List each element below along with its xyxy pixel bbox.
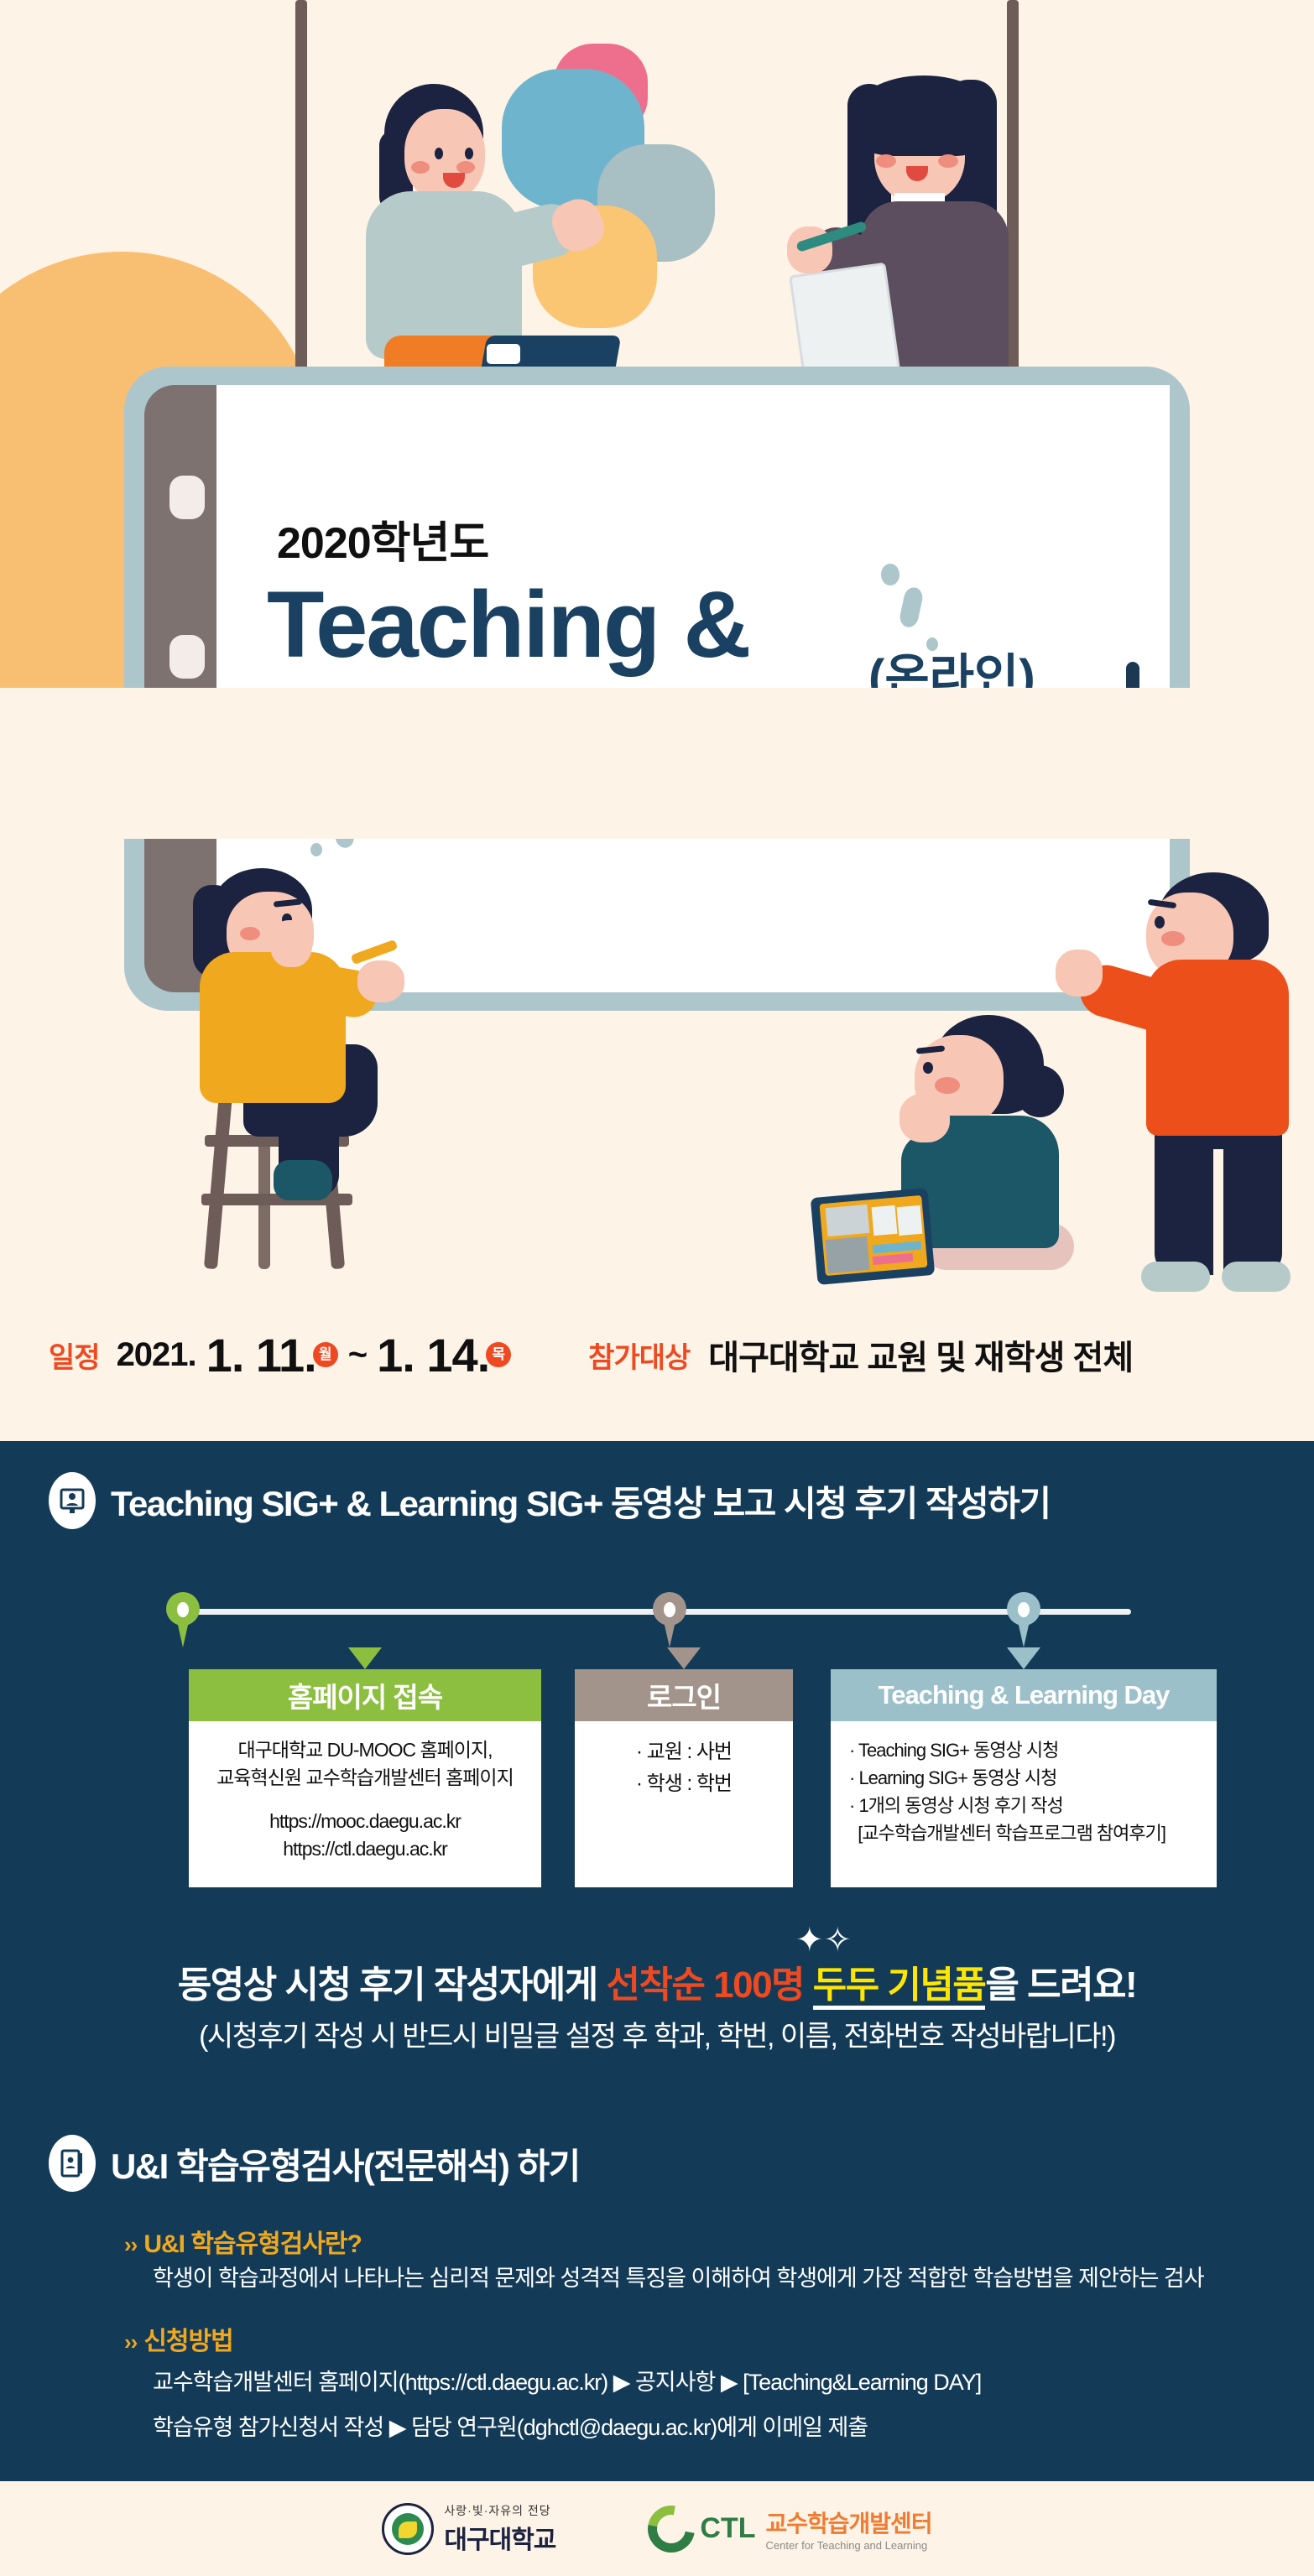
university-logo: 사랑·빛·자유의 전당 대구대학교: [382, 2502, 555, 2556]
gift-prefix: 동영상 시청 후기 작성자에게: [178, 1965, 607, 2006]
hero-section: 2020학년도 Teaching & (온라인) Learning Day: [0, 0, 1314, 1447]
timeline-pin-1: [166, 1592, 200, 1647]
gift-note: (시청후기 작성 시 반드시 비밀글 설정 후 학과, 학번, 이름, 전화번호…: [0, 2013, 1314, 2054]
chevron-right-icon-1: ››: [124, 2232, 137, 2257]
schedule-end-weekday-badge: 목: [486, 1342, 511, 1367]
info-bar: 일정 2021. 1. 11. 월 ~ 1. 14. 목 참가대상 대구대학교 …: [0, 1317, 1314, 1392]
step-card-2-body: · 교원 : 사번 · 학생 : 학번: [575, 1721, 793, 1816]
step-card-2: 로그인 · 교원 : 사번 · 학생 : 학번: [575, 1669, 793, 1887]
step-card-3-line-1: · Teaching SIG+ 동영상 시청: [849, 1736, 1205, 1764]
ui-item-1-body-line-1: 학생이 학습과정에서 나타나는 심리적 문제와 성격적 특징을 이해하여 학생에…: [153, 2260, 1204, 2292]
step-card-2-arrow: [667, 1647, 701, 1669]
schedule-label: 일정: [49, 1335, 100, 1376]
step-card-3-line-4: [교수학습개발센터 학습프로그램 참여후기]: [849, 1819, 1205, 1847]
schedule-range-separator: ~: [348, 1336, 367, 1374]
section-1-header: Teaching SIG+ & Learning SIG+ 동영상 보고 시청 …: [49, 1472, 1051, 1529]
gift-suffix: 을 드려요!: [985, 1965, 1136, 2006]
ctl-logo: CTL 교수학습개발센터 Center for Teaching and Lea…: [648, 2506, 931, 2553]
schedule-year: 2021.: [117, 1336, 196, 1374]
step-card-2-line-2: · 학생 : 학번: [587, 1768, 781, 1800]
ctl-logo-text: 교수학습개발센터 Center for Teaching and Learnin…: [766, 2506, 932, 2552]
audience-value: 대구대학교 교원 및 재학생 전체: [708, 1330, 1133, 1379]
audience-label: 참가대상: [588, 1335, 690, 1376]
ui-item-2-body-line-2: 학습유형 참가신청서 작성 ▶ 담당 연구원(dghctl@daegu.ac.k…: [153, 2409, 868, 2442]
poster-title-line1: Teaching &: [267, 570, 749, 679]
poster-root: 2020학년도 Teaching & (온라인) Learning Day: [0, 0, 1314, 2576]
decor-sparkle-3: [926, 637, 938, 651]
presentation-icon: [49, 1472, 96, 1529]
step-card-1-arrow: [348, 1647, 382, 1669]
ctl-abbr: CTL: [700, 2512, 755, 2545]
document-card-icon: [49, 2135, 96, 2192]
step-card-3-line-2: · Learning SIG+ 동영상 시청: [849, 1764, 1205, 1792]
ui-item-2-body-line-1: 교수학습개발센터 홈페이지(https://ctl.daegu.ac.kr) ▶…: [153, 2364, 981, 2396]
daegu-university-seal-icon: [382, 2503, 434, 2555]
gift-highlight-count: 선착순 100명: [606, 1965, 804, 2006]
schedule-start-date: 1. 11.: [206, 1328, 316, 1382]
illustration-person-standing: [1099, 872, 1314, 1292]
ctl-english-name: Center for Teaching and Learning: [766, 2539, 932, 2552]
university-name: 대구대학교: [444, 2519, 555, 2556]
ctl-ring-icon: [639, 2496, 704, 2562]
step-card-3-header: Teaching & Learning Day: [831, 1669, 1217, 1721]
step-card-1-link-1[interactable]: https://mooc.daegu.ac.kr: [201, 1808, 529, 1835]
step-card-1-header: 홈페이지 접속: [189, 1669, 541, 1721]
step-card-3-line-3: · 1개의 동영상 시청 후기 작성: [849, 1792, 1205, 1819]
section-2-title: U&I 학습유형검사(전문해석) 하기: [111, 2138, 580, 2189]
university-tagline: 사랑·빛·자유의 전당: [444, 2502, 555, 2519]
timeline-pin-3: [1007, 1592, 1040, 1647]
tablet-dot-2: [169, 635, 205, 679]
gift-announcement: 동영상 시청 후기 작성자에게 선착순 100명 두두 기념품을 드려요!: [0, 1954, 1314, 2008]
step-card-3-arrow: [1007, 1647, 1040, 1669]
schedule-start-weekday-badge: 월: [313, 1342, 338, 1367]
step-card-2-header: 로그인: [575, 1669, 793, 1721]
step-card-3: Teaching & Learning Day · Teaching SIG+ …: [831, 1669, 1217, 1887]
ctl-name: 교수학습개발센터: [766, 2506, 932, 2539]
step-card-1-link-2[interactable]: https://ctl.daegu.ac.kr: [201, 1835, 529, 1863]
university-logo-text: 사랑·빛·자유의 전당 대구대학교: [444, 2502, 555, 2556]
poster-year: 2020학년도: [277, 507, 488, 570]
decor-sparkle-1: [881, 564, 899, 585]
hero-lower-mask: [0, 688, 1314, 839]
section-2-header: U&I 학습유형검사(전문해석) 하기: [49, 2135, 580, 2192]
chevron-right-icon-2: ››: [124, 2329, 137, 2355]
section-1-title: Teaching SIG+ & Learning SIG+ 동영상 보고 시청 …: [111, 1475, 1051, 1527]
step-card-3-body: · Teaching SIG+ 동영상 시청 · Learning SIG+ 동…: [831, 1721, 1217, 1862]
decor-sparkle-5: [310, 843, 322, 856]
step-card-1-line-1: 대구대학교 DU-MOOC 홈페이지,: [201, 1736, 529, 1764]
schedule-end-date: 1. 14.: [377, 1328, 489, 1382]
tablet-dot-1: [169, 476, 205, 519]
ui-item-2-label: 신청방법: [143, 2328, 232, 2355]
gift-highlight-item: 두두 기념품: [813, 1965, 986, 2010]
ui-item-2-label-row: ››신청방법: [124, 2320, 233, 2357]
footer: 사랑·빛·자유의 전당 대구대학교 CTL 교수학습개발센터 Center fo…: [0, 2481, 1314, 2576]
ui-item-1-label-row: ››U&I 학습유형검사란?: [124, 2223, 362, 2260]
step-card-1-body: 대구대학교 DU-MOOC 홈페이지, 교육혁신원 교수학습개발센터 홈페이지 …: [189, 1721, 541, 1878]
hanger-rope-left: [295, 0, 307, 394]
step-card-1: 홈페이지 접속 대구대학교 DU-MOOC 홈페이지, 교육혁신원 교수학습개발…: [189, 1669, 541, 1887]
ui-item-1-label: U&I 학습유형검사란?: [143, 2230, 362, 2258]
timeline-pin-2: [653, 1592, 686, 1647]
step-card-1-line-2: 교육혁신원 교수학습개발센터 홈페이지: [201, 1764, 529, 1792]
step-card-2-line-1: · 교원 : 사번: [587, 1736, 781, 1768]
illustration-person-on-stool: [193, 868, 445, 1271]
